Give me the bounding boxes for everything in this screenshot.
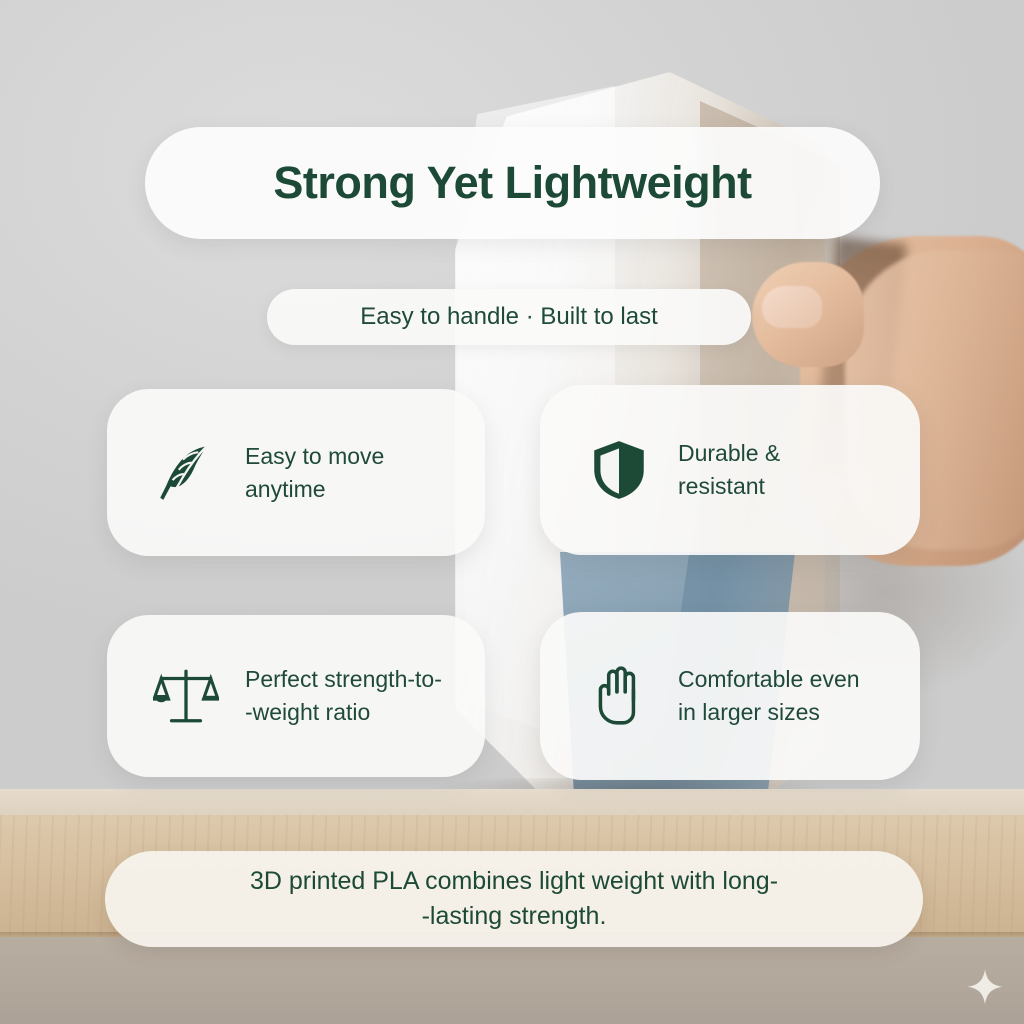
feature-card-durable[interactable]: Durable & resistant [540, 385, 920, 555]
sparkle-icon [963, 967, 1007, 1011]
feature-label-line-2: in larger sizes [678, 696, 860, 729]
feature-card-strength-to-weight[interactable]: Perfect strength-to- -weight ratio [107, 615, 485, 777]
feature-card-label: Perfect strength-to- -weight ratio [245, 663, 442, 728]
feature-card-comfortable[interactable]: Comfortable even in larger sizes [540, 612, 920, 780]
feature-label-line-2: resistant [678, 470, 780, 503]
feature-card-easy-to-move[interactable]: Easy to move anytime [107, 389, 485, 556]
footer-line-1: 3D printed PLA combines light weight wit… [250, 867, 778, 895]
feather-icon [153, 440, 219, 506]
feature-label-line-1: Durable & [678, 437, 780, 470]
footer-banner: 3D printed PLA combines light weight wit… [105, 851, 923, 947]
feature-card-label: Easy to move anytime [245, 440, 384, 505]
footer-text: 3D printed PLA combines light weight wit… [250, 864, 778, 935]
balance-scale-icon [153, 663, 219, 729]
hand-icon [586, 663, 652, 729]
feature-label-line-1: Comfortable even [678, 663, 860, 696]
feature-label-line-2: -weight ratio [245, 696, 442, 729]
feature-label-line-2: anytime [245, 473, 384, 506]
feature-label-line-1: Easy to move [245, 440, 384, 473]
footer-line-2: -lasting strength. [422, 902, 607, 930]
feature-card-label: Comfortable even in larger sizes [678, 663, 860, 728]
feature-label-line-1: Perfect strength-to- [245, 663, 442, 696]
shield-icon [586, 437, 652, 503]
poster-canvas: Strong Yet Lightweight Easy to handle · … [0, 0, 1024, 1024]
feature-card-label: Durable & resistant [678, 437, 780, 502]
